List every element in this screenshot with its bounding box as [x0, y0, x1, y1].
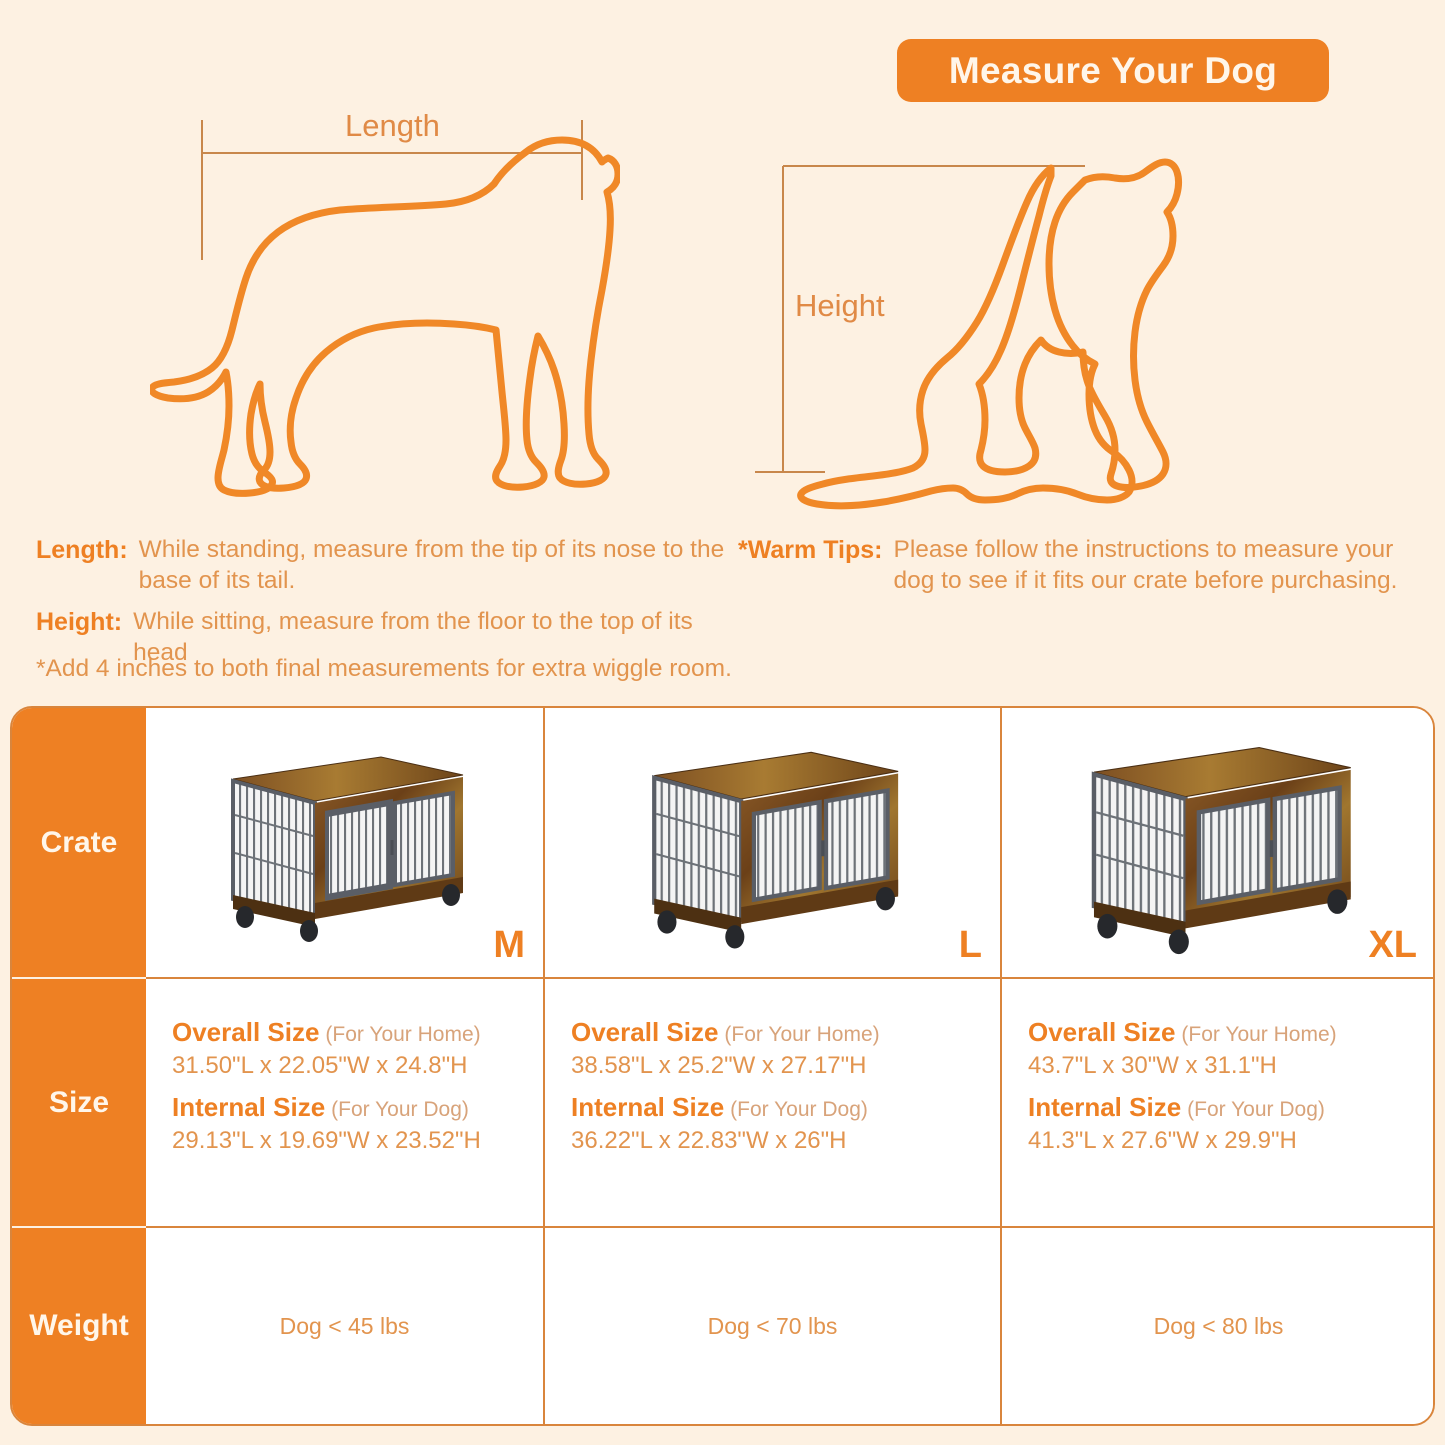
crate-image-cell-xl: XL: [1002, 708, 1435, 979]
wiggle-room-footnote: *Add 4 inches to both final measurements…: [36, 655, 732, 683]
note-key-warm-tips: *Warm Tips:: [738, 534, 893, 597]
overall-size-heading-m: Overall Size(For Your Home): [172, 1017, 543, 1048]
internal-size-title-m: Internal Size: [172, 1092, 325, 1122]
note-row-warm-tips: *Warm Tips: Please follow the instructio…: [738, 534, 1428, 597]
note-row-length: Length: While standing, measure from the…: [36, 534, 726, 597]
overall-size-title-m: Overall Size: [172, 1017, 319, 1047]
overall-size-heading-l: Overall Size(For Your Home): [571, 1017, 1000, 1048]
overall-size-value-xl: 43.7"L x 30"W x 31.1"H: [1028, 1052, 1435, 1080]
internal-size-value-m: 29.13"L x 19.69"W x 23.52"H: [172, 1127, 543, 1155]
crate-image-cell-l: L: [545, 708, 1002, 979]
height-diagram: [755, 150, 1225, 520]
size-badge-l: L: [959, 924, 982, 967]
internal-size-heading-xl: Internal Size(For Your Dog): [1028, 1092, 1435, 1123]
dog-crate-furniture-icon-xl: [1054, 723, 1384, 963]
internal-size-value-l: 36.22"L x 22.83"W x 26"H: [571, 1127, 1000, 1155]
overall-size-value-l: 38.58"L x 25.2"W x 27.17"H: [571, 1052, 1000, 1080]
size-cell-l: Overall Size(For Your Home) 38.58"L x 25…: [545, 979, 1002, 1228]
weight-value-xl: Dog < 80 lbs: [1154, 1313, 1284, 1340]
dog-crate-furniture-icon-l: [623, 729, 923, 957]
size-badge-m: M: [493, 924, 525, 967]
internal-size-sub-xl: (For Your Dog): [1181, 1098, 1325, 1121]
warm-tips-block: *Warm Tips: Please follow the instructio…: [738, 534, 1428, 606]
weight-cell-l: Dog < 70 lbs: [545, 1228, 1002, 1424]
overall-size-value-m: 31.50"L x 22.05"W x 24.8"H: [172, 1052, 543, 1080]
internal-size-sub-m: (For Your Dog): [325, 1098, 469, 1121]
overall-size-sub-l: (For Your Home): [718, 1023, 879, 1046]
length-label: Length: [345, 108, 440, 144]
measure-your-dog-badge: Measure Your Dog: [897, 39, 1329, 102]
standing-dog-outline-icon: [150, 110, 620, 510]
internal-size-title-l: Internal Size: [571, 1092, 724, 1122]
overall-size-title-xl: Overall Size: [1028, 1017, 1175, 1047]
row-label-crate: Crate: [12, 708, 146, 979]
note-value-length: While standing, measure from the tip of …: [139, 534, 726, 597]
internal-size-title-xl: Internal Size: [1028, 1092, 1181, 1122]
row-label-weight: Weight: [12, 1228, 146, 1424]
size-cell-m: Overall Size(For Your Home) 31.50"L x 22…: [146, 979, 545, 1228]
size-cell-xl: Overall Size(For Your Home) 43.7"L x 30"…: [1002, 979, 1435, 1228]
overall-size-heading-xl: Overall Size(For Your Home): [1028, 1017, 1435, 1048]
note-value-warm-tips: Please follow the instructions to measur…: [893, 534, 1428, 597]
length-diagram: [150, 110, 620, 510]
internal-size-sub-l: (For Your Dog): [724, 1098, 868, 1121]
weight-cell-xl: Dog < 80 lbs: [1002, 1228, 1435, 1424]
crate-size-table: Crate: [10, 706, 1435, 1426]
dog-crate-furniture-icon-m: [211, 735, 479, 950]
badge-label: Measure Your Dog: [949, 50, 1277, 92]
overall-size-sub-m: (For Your Home): [319, 1023, 480, 1046]
internal-size-value-xl: 41.3"L x 27.6"W x 29.9"H: [1028, 1127, 1435, 1155]
note-key-length: Length:: [36, 534, 139, 597]
crate-image-cell-m: M: [146, 708, 545, 979]
row-label-size: Size: [12, 979, 146, 1228]
sitting-dog-outline-icon: [755, 150, 1225, 520]
weight-value-m: Dog < 45 lbs: [280, 1313, 410, 1340]
internal-size-heading-l: Internal Size(For Your Dog): [571, 1092, 1000, 1123]
weight-value-l: Dog < 70 lbs: [708, 1313, 838, 1340]
overall-size-title-l: Overall Size: [571, 1017, 718, 1047]
height-label: Height: [795, 288, 885, 324]
size-badge-xl: XL: [1368, 924, 1417, 967]
weight-cell-m: Dog < 45 lbs: [146, 1228, 545, 1424]
overall-size-sub-xl: (For Your Home): [1175, 1023, 1336, 1046]
internal-size-heading-m: Internal Size(For Your Dog): [172, 1092, 543, 1123]
